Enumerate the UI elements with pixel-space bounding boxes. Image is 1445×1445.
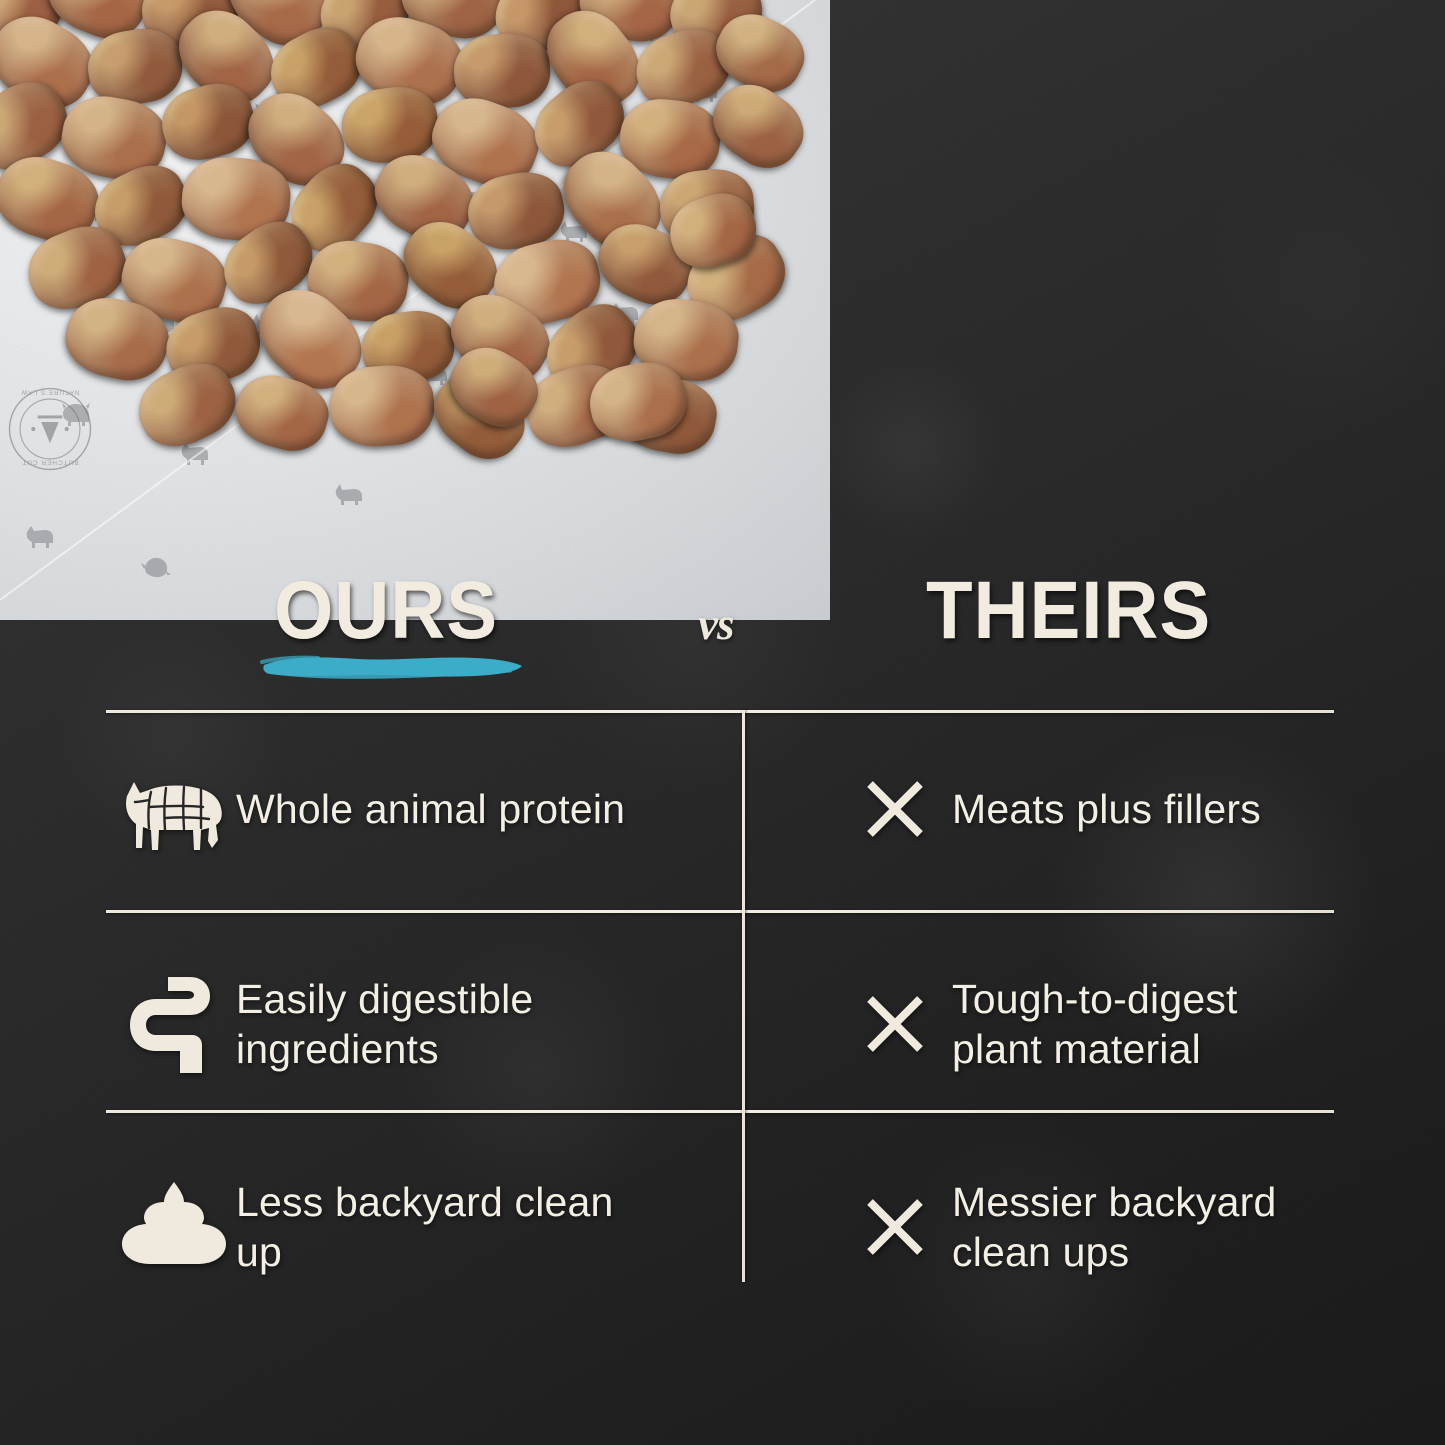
row-ours-text: Whole animal protein	[236, 785, 625, 835]
row-theirs-cell: Tough-to-digest plant material	[742, 910, 1334, 1140]
theirs-heading: THEIRS	[926, 570, 1211, 652]
ours-heading-group: OURS	[274, 570, 515, 652]
row-theirs-text: Tough-to-digest plant material	[952, 975, 1334, 1074]
intestine-digestion-icon	[112, 971, 236, 1079]
row-theirs-text: Meats plus fillers	[952, 785, 1261, 835]
vs-label: vs	[698, 598, 734, 650]
row-ours-text: Less backyard clean up	[236, 1178, 656, 1277]
table-row: Easily digestible ingredients Tough-to-d…	[106, 910, 1334, 1140]
x-mark-icon	[836, 994, 952, 1056]
comparison-rows: Whole animal protein Meats plus fillers	[106, 710, 1334, 1315]
row-theirs-cell: Meats plus fillers	[742, 710, 1334, 910]
row-ours-cell: Whole animal protein	[106, 710, 742, 910]
row-theirs-cell: Messier backyard clean ups	[742, 1140, 1334, 1315]
ours-heading: OURS	[274, 570, 498, 652]
cow-butcher-cuts-icon	[112, 762, 236, 858]
comparison-table: OURS vs THEIRS	[106, 560, 1334, 1290]
table-row: Whole animal protein Meats plus fillers	[106, 710, 1334, 910]
comparison-header: OURS vs THEIRS	[106, 560, 1334, 710]
x-mark-icon	[836, 1197, 952, 1259]
poop-icon	[112, 1178, 236, 1278]
x-mark-icon	[836, 779, 952, 841]
svg-text:BUTCHER CUT: BUTCHER CUT	[21, 459, 78, 466]
food-nugget-pile	[0, 0, 790, 440]
comparison-graphic: BUTCHER CUT NATURE'S LAW	[0, 0, 1445, 1445]
row-ours-cell: Easily digestible ingredients	[106, 910, 742, 1140]
row-ours-cell: Less backyard clean up	[106, 1140, 742, 1315]
table-row: Less backyard clean up Messier backyard …	[106, 1140, 1334, 1315]
row-ours-text: Easily digestible ingredients	[236, 975, 656, 1074]
row-theirs-text: Messier backyard clean ups	[952, 1178, 1334, 1277]
